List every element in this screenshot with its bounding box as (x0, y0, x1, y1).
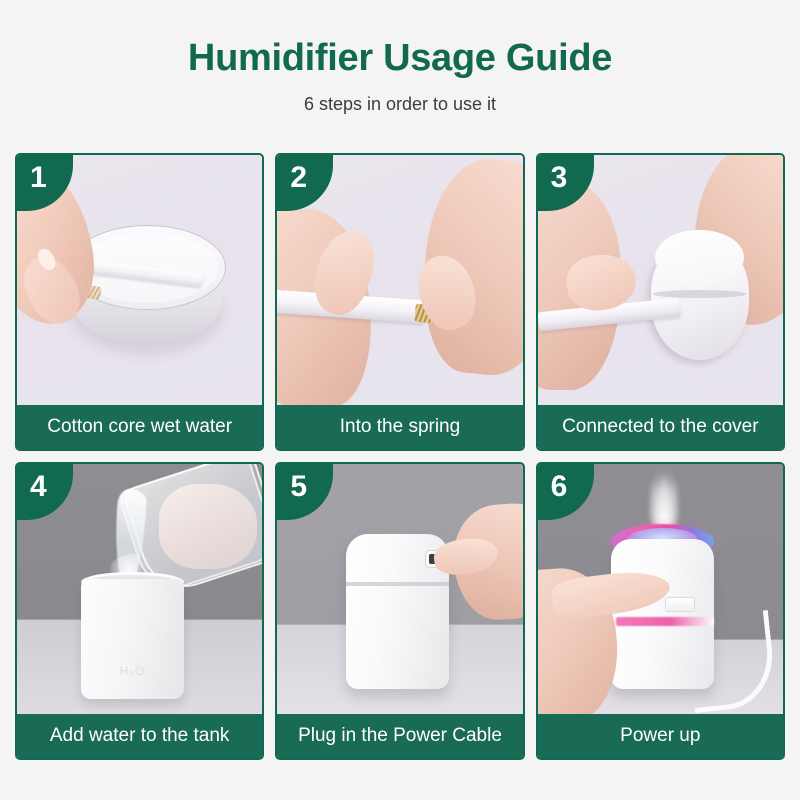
step-card-4[interactable]: H₂O 4 Add water to the tank (15, 462, 264, 760)
page-title: Humidifier Usage Guide (0, 38, 800, 80)
step-card-2[interactable]: 2 Into the spring (275, 153, 524, 451)
page-subtitle: 6 steps in order to use it (0, 94, 800, 115)
step-caption-4: Add water to the tank (17, 714, 262, 758)
step-card-1[interactable]: 1 Cotton core wet water (15, 153, 264, 451)
step-card-3[interactable]: 3 Connected to the cover (536, 153, 785, 451)
steps-grid: 1 Cotton core wet water 2 Into the sprin… (15, 153, 785, 760)
lid-seam (346, 582, 449, 586)
step-card-6[interactable]: 6 Power up (536, 462, 785, 760)
power-button[interactable] (665, 597, 694, 612)
step-card-5[interactable]: 5 Plug in the Power Cable (275, 462, 524, 760)
page-header: Humidifier Usage Guide 6 steps in order … (0, 0, 800, 115)
step-caption-6: Power up (538, 714, 783, 758)
cover-seam (653, 290, 746, 298)
step-caption-5: Plug in the Power Cable (277, 714, 522, 758)
water-tank (81, 579, 184, 699)
step-caption-3: Connected to the cover (538, 405, 783, 449)
step-caption-1: Cotton core wet water (17, 405, 262, 449)
tank-h2o-label: H₂O (81, 664, 184, 678)
step-caption-2: Into the spring (277, 405, 522, 449)
cover-top-face (655, 230, 743, 285)
